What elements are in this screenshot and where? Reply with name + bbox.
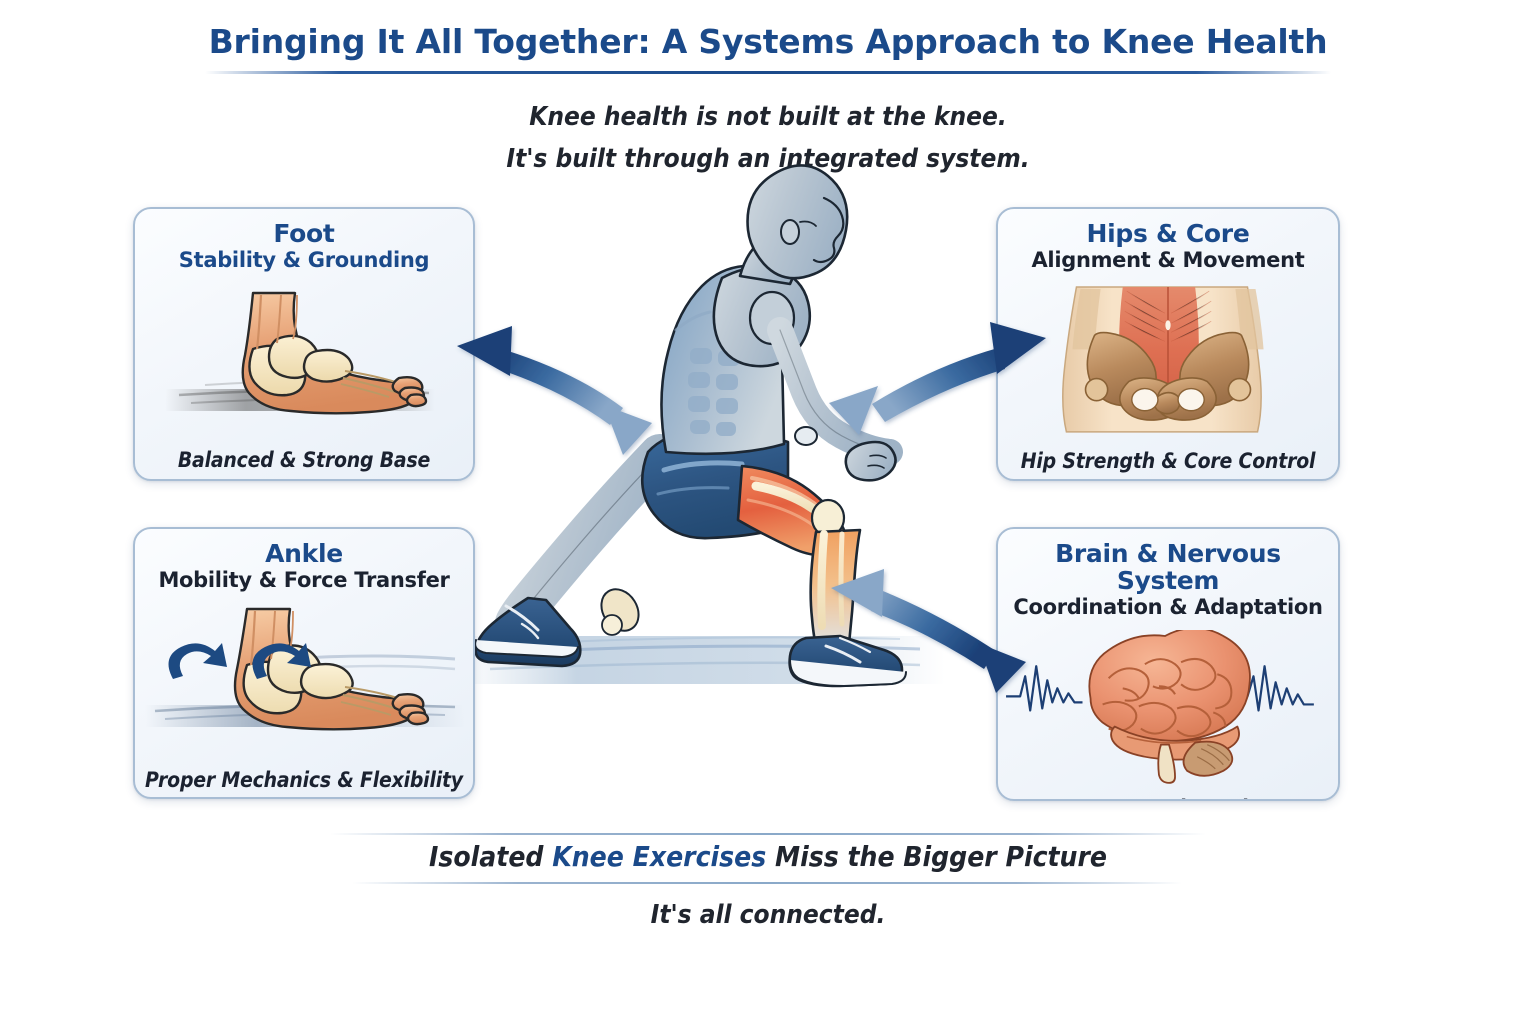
card-foot-subtitle: Stability & Grounding — [149, 248, 459, 272]
card-hips-header: Hips & Core Alignment & Movement — [998, 209, 1338, 278]
card-ankle-header: Ankle Mobility & Force Transfer — [135, 529, 473, 598]
pelvis-core-muscles-icon — [998, 283, 1338, 438]
card-foot-illustration-area — [135, 283, 473, 437]
footer-line-1: Isolated Knee Exercises Miss the Bigger … — [0, 840, 1536, 873]
card-hips-subtitle: Alignment & Movement — [1012, 248, 1324, 272]
card-brain-caption: Motor Control & Balance — [998, 790, 1338, 801]
page-title: Bringing It All Together: A Systems Appr… — [0, 22, 1536, 61]
card-ankle-illustration-area — [135, 603, 473, 757]
card-brain-subtitle: Coordination & Adaptation — [1012, 595, 1324, 619]
ground-shading — [455, 636, 945, 684]
card-hips-core[interactable]: Hips & Core Alignment & Movement — [996, 207, 1340, 481]
card-hips-title: Hips & Core — [1012, 220, 1324, 247]
page-subtitle: Knee health is not built at the knee. It… — [0, 96, 1536, 180]
footer-line1-pre: Isolated — [429, 840, 552, 873]
card-foot[interactable]: Foot Stability & Grounding — [133, 207, 475, 481]
subtitle-line-2: It's built through an integrated system. — [0, 138, 1536, 180]
arrow-center-to-foot — [457, 326, 652, 455]
ankle-rotation-arrow-left — [169, 643, 228, 679]
infographic-canvas: Bringing It All Together: A Systems Appr… — [0, 0, 1536, 1024]
footer-divider-top — [330, 833, 1206, 835]
footer-line-2: It's all connected. — [0, 900, 1536, 930]
footer-divider-bottom — [352, 882, 1182, 884]
card-brain-nervous-system[interactable]: Brain & Nervous System Coordination & Ad… — [996, 527, 1340, 801]
subtitle-line-1: Knee health is not built at the knee. — [0, 96, 1536, 138]
card-hips-caption: Hip Strength & Core Control — [998, 443, 1338, 481]
card-ankle[interactable]: Ankle Mobility & Force Transfer — [133, 527, 475, 799]
foot-bones-side-view-icon — [135, 283, 473, 437]
card-hips-illustration-area — [998, 283, 1338, 438]
ankle-bones-rotation-arrows-icon — [135, 603, 473, 757]
card-ankle-caption: Proper Mechanics & Flexibility — [135, 762, 473, 799]
title-divider — [205, 71, 1331, 74]
card-brain-title: Brain & Nervous System — [1012, 540, 1324, 594]
footer-line1-accent: Knee Exercises — [552, 840, 766, 873]
card-foot-title: Foot — [149, 220, 459, 247]
card-foot-header: Foot Stability & Grounding — [135, 209, 473, 278]
card-ankle-subtitle: Mobility & Force Transfer — [149, 568, 459, 592]
card-foot-caption: Balanced & Strong Base — [135, 442, 473, 481]
card-ankle-title: Ankle — [149, 540, 459, 567]
footer-line1-post: Miss the Bigger Picture — [766, 840, 1107, 873]
card-brain-header: Brain & Nervous System Coordination & Ad… — [998, 529, 1338, 625]
card-brain-illustration-area — [998, 630, 1338, 785]
brain-with-eeg-waveform-icon — [998, 630, 1338, 785]
eeg-waveform-left — [1006, 666, 1082, 710]
